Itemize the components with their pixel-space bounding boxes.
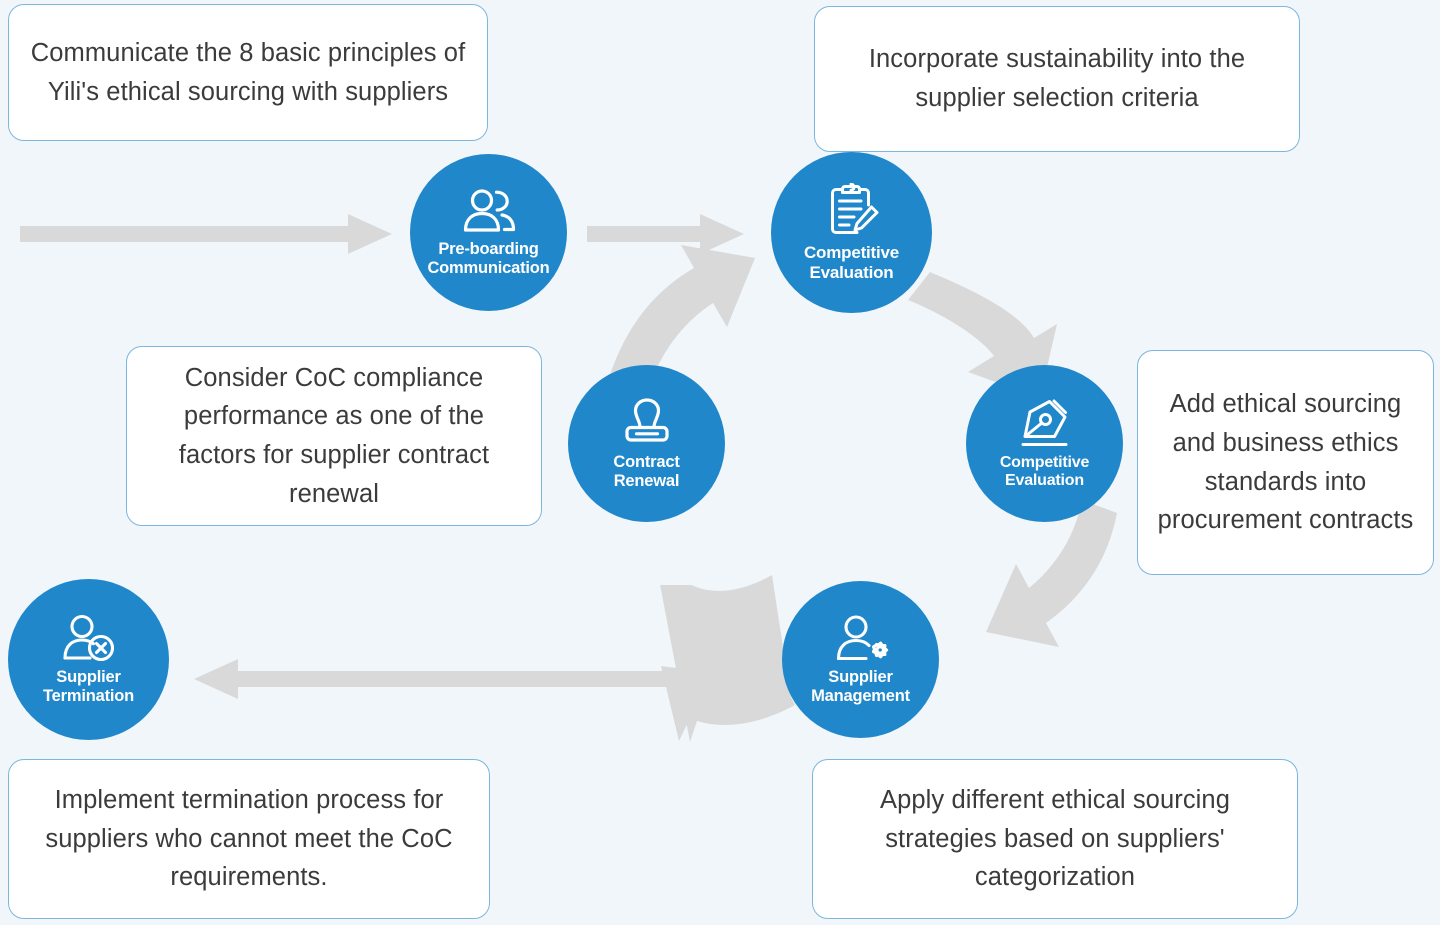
arrow-management-to-termination: [194, 659, 800, 699]
pen-nib-icon: [1016, 398, 1074, 450]
callout-box-apply-strategies: Apply different ethical sourcing strateg…: [812, 759, 1298, 919]
node-label-preboarding: Pre-boarding Communication: [427, 240, 549, 277]
node-supplier-management[interactable]: Supplier Management: [782, 581, 939, 738]
node-competitive-evaluation-top[interactable]: Competitive Evaluation: [771, 152, 932, 313]
clipboard-pencil-icon: [824, 183, 880, 239]
callout-text-termination-process: Implement termination process for suppli…: [25, 781, 473, 897]
node-contract-renewal[interactable]: Contract Renewal: [568, 365, 725, 522]
callout-box-termination-process: Implement termination process for suppli…: [8, 759, 490, 919]
callout-box-communicate: Communicate the 8 basic principles of Yi…: [8, 4, 488, 141]
arrow-preboarding-to-competitive: [587, 214, 744, 254]
callout-text-add-ethical-sourcing: Add ethical sourcing and business ethics…: [1154, 385, 1417, 540]
callout-box-add-ethical-sourcing: Add ethical sourcing and business ethics…: [1137, 350, 1434, 575]
callout-box-coc-compliance: Consider CoC compliance performance as o…: [126, 346, 542, 526]
person-gear-icon: [832, 614, 890, 664]
arrow-management-to-renewal: [658, 558, 795, 742]
arrow-signing-to-management: [986, 500, 1117, 647]
two-people-icon: [458, 188, 520, 236]
stamp-icon: [618, 397, 676, 449]
node-label-competitive-right: Competitive Evaluation: [1000, 454, 1089, 490]
callout-text-sustainability: Incorporate sustainability into the supp…: [831, 40, 1283, 118]
callout-text-coc-compliance: Consider CoC compliance performance as o…: [143, 359, 525, 514]
node-competitive-evaluation-right[interactable]: Competitive Evaluation: [966, 365, 1123, 522]
node-label-competitive-top: Competitive Evaluation: [804, 243, 899, 281]
diagram-canvas: Communicate the 8 basic principles of Yi…: [0, 0, 1440, 925]
node-label-supplier-management: Supplier Management: [811, 668, 910, 705]
callout-text-apply-strategies: Apply different ethical sourcing strateg…: [829, 781, 1281, 897]
arrow-entry-to-preboarding: [20, 214, 392, 254]
node-preboarding-communication[interactable]: Pre-boarding Communication: [410, 154, 567, 311]
node-label-supplier-termination: Supplier Termination: [43, 668, 134, 705]
node-label-contract-renewal: Contract Renewal: [613, 453, 679, 490]
callout-text-communicate: Communicate the 8 basic principles of Yi…: [25, 34, 471, 112]
node-supplier-termination[interactable]: Supplier Termination: [8, 579, 169, 740]
person-remove-icon: [60, 614, 118, 664]
callout-box-sustainability: Incorporate sustainability into the supp…: [814, 6, 1300, 152]
